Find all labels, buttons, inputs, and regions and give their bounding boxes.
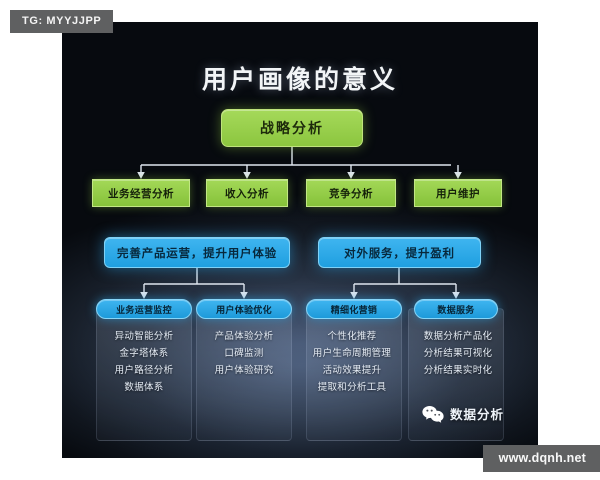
node-label: 收入分析 — [225, 186, 269, 201]
node-label: 战略分析 — [260, 118, 324, 138]
node-label: 用户维护 — [436, 186, 480, 201]
list-item: 数据分析产品化 — [424, 328, 493, 342]
node-label: 对外服务，提升盈利 — [344, 245, 455, 261]
node-user-retention[interactable]: 用户维护 — [414, 179, 502, 207]
list-item: 金字塔体系 — [119, 345, 168, 359]
node-label: 竞争分析 — [329, 186, 373, 201]
list-item: 用户体验研究 — [215, 362, 274, 376]
node-strategic-analysis[interactable]: 战略分析 — [221, 109, 363, 147]
node-label: 用户体验优化 — [216, 303, 272, 316]
node-label: 完善产品运营，提升用户体验 — [117, 245, 277, 261]
item-list-data-services: 数据分析产品化 分析结果可视化 分析结果实时化 — [403, 328, 513, 376]
list-item: 异动智能分析 — [115, 328, 174, 342]
item-list-refined-marketing: 个性化推荐 用户生命周期管理 活动效果提升 提取和分析工具 — [297, 328, 407, 393]
node-refined-marketing[interactable]: 精细化营销 — [306, 299, 402, 319]
item-list-business-operations-monitoring: 异动智能分析 金字塔体系 用户路径分析 数据体系 — [89, 328, 199, 393]
list-item: 分析结果可视化 — [424, 345, 493, 359]
node-business-operation-analysis[interactable]: 业务经营分析 — [92, 179, 190, 207]
list-item: 用户生命周期管理 — [313, 345, 391, 359]
list-item: 活动效果提升 — [323, 362, 382, 376]
node-improve-product-operations[interactable]: 完善产品运营，提升用户体验 — [104, 237, 290, 268]
list-item: 提取和分析工具 — [318, 379, 387, 393]
screenshot-canvas: 用户画像的意义 — [0, 0, 600, 480]
node-competition-analysis[interactable]: 竞争分析 — [306, 179, 396, 207]
wechat-label: 数据分析 — [450, 404, 504, 423]
telegram-watermark: TG: MYYJJPP — [10, 10, 113, 33]
node-user-experience-optimization[interactable]: 用户体验优化 — [196, 299, 292, 319]
node-revenue-analysis[interactable]: 收入分析 — [206, 179, 288, 207]
list-item: 用户路径分析 — [115, 362, 174, 376]
node-external-services-profit[interactable]: 对外服务，提升盈利 — [318, 237, 481, 268]
node-label: 业务运营监控 — [116, 303, 172, 316]
presentation-slide: 用户画像的意义 — [62, 22, 538, 458]
site-url-watermark: www.dqnh.net — [483, 445, 600, 472]
node-label: 数据服务 — [437, 303, 474, 316]
node-data-services[interactable]: 数据服务 — [414, 299, 498, 319]
list-item: 分析结果实时化 — [424, 362, 493, 376]
item-list-user-experience-optimization: 产品体验分析 口碑监测 用户体验研究 — [189, 328, 299, 376]
node-label: 业务经营分析 — [108, 186, 174, 201]
wechat-watermark: 数据分析 — [422, 404, 504, 423]
wechat-icon — [422, 405, 444, 423]
node-business-operations-monitoring[interactable]: 业务运营监控 — [96, 299, 192, 319]
list-item: 数据体系 — [124, 379, 163, 393]
list-item: 个性化推荐 — [327, 328, 376, 342]
list-item: 产品体验分析 — [215, 328, 274, 342]
node-label: 精细化营销 — [331, 303, 378, 316]
list-item: 口碑监测 — [224, 345, 263, 359]
